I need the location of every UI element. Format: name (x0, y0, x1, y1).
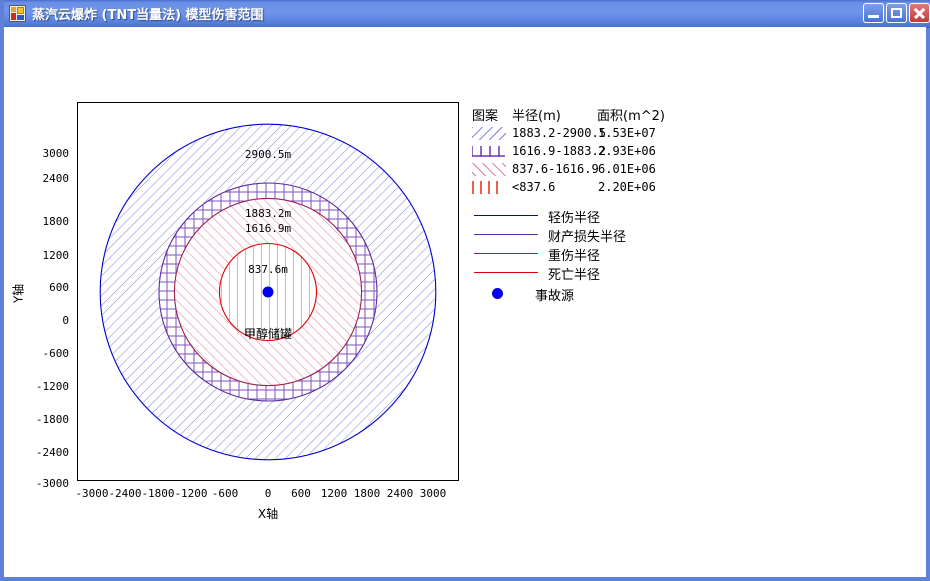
legend-line-death: 死亡半径 (472, 263, 732, 282)
legend-zone-radius-1: 1616.9-1883.2 (512, 144, 606, 158)
damage-radius-chart: 2900.5m 1883.2m 1616.9m 837.6m 甲醇储罐 3000… (4, 27, 474, 457)
y-tick-5: 0 (12, 314, 69, 327)
maximize-button[interactable] (886, 3, 907, 23)
y-tick-7: -1200 (12, 380, 69, 393)
legend-zone-row-minor-injury: 1883.2-2900.5 1.53E+07 (472, 125, 732, 143)
client-area: 2900.5m 1883.2m 1616.9m 837.6m 甲醇储罐 3000… (4, 27, 926, 577)
x-tick-4: -600 (203, 487, 247, 500)
close-button[interactable] (909, 3, 930, 23)
legend-accident-source: 事故源 (472, 284, 732, 304)
legend-header-row: 图案 半径(m) 面积(m^2) (472, 105, 732, 125)
source-name-label: 甲醇储罐 (244, 325, 292, 342)
legend-header-pattern: 图案 (472, 105, 498, 124)
legend-zone-area-2: 6.01E+06 (598, 162, 656, 176)
window-title: 蒸汽云爆炸 (TNT当量法) 模型伤害范围 (32, 4, 264, 23)
legend-line-label-2: 重伤半径 (548, 245, 600, 264)
application-window: 蒸汽云爆炸 (TNT当量法) 模型伤害范围 (0, 0, 930, 581)
line-swatch-death-icon (474, 272, 538, 273)
accident-source-dot-icon (492, 288, 503, 299)
swatch-cross-hatch-purple-icon (472, 145, 506, 158)
legend-header-area: 面积(m^2) (597, 105, 665, 124)
title-bar[interactable]: 蒸汽云爆炸 (TNT当量法) 模型伤害范围 (4, 0, 930, 28)
legend-zone-radius-2: 837.6-1616.9 (512, 162, 599, 176)
legend-line-label-3: 死亡半径 (548, 264, 600, 283)
form-designer-icon (9, 5, 26, 22)
line-swatch-minor-injury-icon (474, 215, 538, 216)
line-swatch-severe-injury-icon (474, 253, 538, 254)
y-axis-title: Y轴 (10, 274, 27, 314)
accident-source-marker (263, 287, 274, 298)
y-tick-0: 3000 (12, 147, 69, 160)
y-tick-9: -2400 (12, 446, 69, 459)
chart-legend: 图案 半径(m) 面积(m^2) 1883.2-2900.5 1.53E+07 … (472, 105, 732, 304)
y-tick-3: 1200 (12, 249, 69, 262)
legend-zone-area-1: 2.93E+06 (598, 144, 656, 158)
legend-header-radius: 半径(m) (512, 105, 561, 124)
x-axis-title: X轴 (188, 505, 348, 522)
legend-zone-row-severe-injury: 837.6-1616.9 6.01E+06 (472, 161, 732, 179)
y-tick-2: 1800 (12, 215, 69, 228)
legend-zone-radius-0: 1883.2-2900.5 (512, 126, 606, 140)
legend-line-property-loss: 财产损失半径 (472, 225, 732, 244)
legend-zone-row-death: <837.6 2.20E+06 (472, 179, 732, 197)
ring-label-1616: 1616.9m (245, 222, 291, 235)
swatch-vertical-red-icon (472, 181, 506, 194)
legend-zone-area-0: 1.53E+07 (598, 126, 656, 140)
y-tick-10: -3000 (12, 477, 69, 490)
swatch-diagonal-forward-blue-icon (472, 127, 506, 140)
ring-label-2900: 2900.5m (245, 148, 291, 161)
legend-zone-area-3: 2.20E+06 (598, 180, 656, 194)
legend-line-severe-injury: 重伤半径 (472, 244, 732, 263)
swatch-diagonal-back-pink-icon (472, 163, 506, 176)
x-tick-10: 3000 (411, 487, 455, 500)
legend-line-entries: 轻伤半径 财产损失半径 重伤半径 死亡半径 (472, 206, 732, 282)
minimize-button[interactable] (863, 3, 884, 23)
legend-line-label-1: 财产损失半径 (548, 226, 626, 245)
legend-zone-radius-3: <837.6 (512, 180, 555, 194)
legend-line-label-0: 轻伤半径 (548, 207, 600, 226)
legend-source-label: 事故源 (535, 285, 574, 304)
ring-label-837: 837.6m (248, 263, 288, 276)
y-tick-1: 2400 (12, 172, 69, 185)
y-tick-8: -1800 (12, 413, 69, 426)
legend-line-minor-injury: 轻伤半径 (472, 206, 732, 225)
ring-label-1883: 1883.2m (245, 207, 291, 220)
legend-zone-row-property-loss: 1616.9-1883.2 2.93E+06 (472, 143, 732, 161)
line-swatch-property-loss-icon (474, 234, 538, 235)
window-controls (863, 3, 930, 23)
y-tick-6: -600 (12, 347, 69, 360)
